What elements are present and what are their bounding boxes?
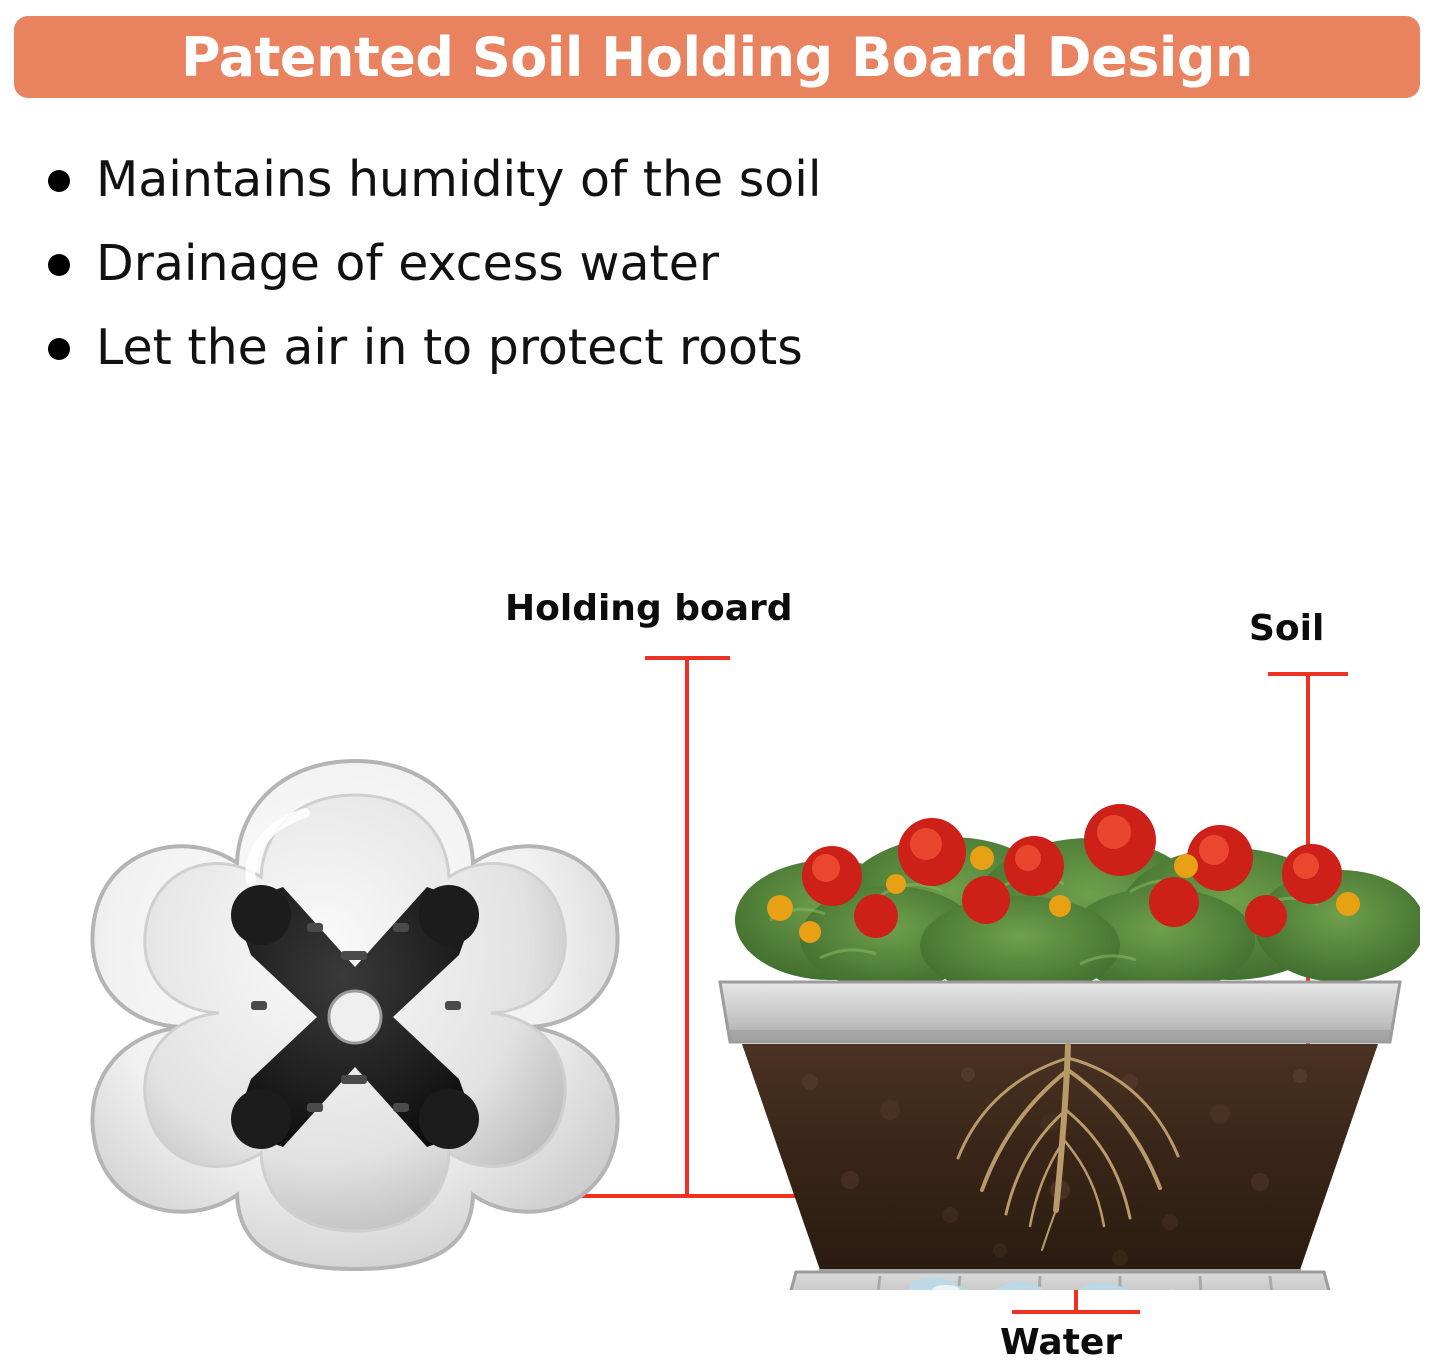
product-diagram: Holding board Soil Water <box>0 560 1435 1368</box>
list-item: Let the air in to protect roots <box>48 318 1148 378</box>
leader-line-holding-board-horizontal <box>645 656 730 660</box>
board-corner-pad <box>231 885 291 945</box>
board-corner-pad <box>231 1089 291 1149</box>
board-center-hole <box>329 991 381 1043</box>
page-header-banner: Patented Soil Holding Board Design <box>14 16 1420 98</box>
callout-label-soil: Soil <box>1249 608 1324 649</box>
list-item: Drainage of excess water <box>48 234 1148 294</box>
pot-top-view-illustration <box>55 755 655 1275</box>
bullet-dot-icon <box>48 170 70 192</box>
board-corner-pad <box>419 1089 479 1149</box>
feature-text: Maintains humidity of the soil <box>96 150 821 210</box>
feature-bullet-list: Maintains humidity of the soil Drainage … <box>48 150 1148 401</box>
bullet-dot-icon <box>48 254 70 276</box>
water-reservoir-tray <box>784 1272 1336 1290</box>
list-item: Maintains humidity of the soil <box>48 150 1148 210</box>
feature-text: Drainage of excess water <box>96 234 719 294</box>
leader-line-holding-board-vertical <box>685 656 689 1196</box>
feature-text: Let the air in to protect roots <box>96 318 803 378</box>
callout-label-water: Water <box>1000 1322 1122 1363</box>
planter-rim-shadow <box>730 1030 1390 1042</box>
page-title: Patented Soil Holding Board Design <box>181 26 1253 89</box>
bullet-dot-icon <box>48 338 70 360</box>
planter-cross-section-illustration <box>700 670 1420 1290</box>
board-corner-pad <box>419 885 479 945</box>
callout-label-holding-board: Holding board <box>505 588 793 629</box>
leader-line-water-horizontal <box>1012 1310 1140 1314</box>
